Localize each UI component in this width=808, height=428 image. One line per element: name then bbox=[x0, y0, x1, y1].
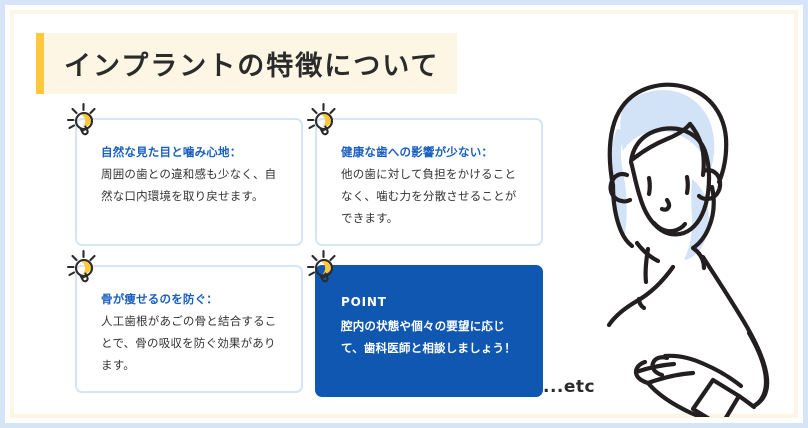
page-title-band: インプラントの特徴について bbox=[36, 33, 457, 94]
title-accent-bar bbox=[36, 33, 44, 94]
card-heading: 自然な見た目と噛み心地： bbox=[101, 144, 285, 161]
woman-presenting-illustration bbox=[553, 67, 801, 417]
feature-card-point[interactable]: POINT 腔内の状態や個々の要望に応じて、歯科医師と相談しましょう！ bbox=[315, 265, 543, 397]
card-text: 腔内の状態や個々の要望に応じて、歯科医師と相談しましょう！ bbox=[341, 315, 525, 360]
card-heading: 骨が痩せるのを防ぐ： bbox=[101, 291, 285, 308]
point-label: POINT bbox=[341, 293, 525, 311]
card-body-container: POINT 腔内の状態や個々の要望に応じて、歯科医師と相談しましょう！ bbox=[315, 265, 543, 397]
card-body-container: 自然な見た目と噛み心地： 周囲の歯との違和感も少なく、自然な口内環境を取り戻せま… bbox=[75, 118, 303, 246]
card-heading: 健康な歯への影響が少ない： bbox=[341, 144, 525, 161]
feature-card-2[interactable]: 健康な歯への影響が少ない： 他の歯に対して負担をかけることなく、噛む力を分散させ… bbox=[315, 118, 543, 246]
card-text: 人工歯根があごの骨と結合することで、骨の吸収を防ぐ効果があります。 bbox=[101, 310, 285, 376]
feature-card-1[interactable]: 自然な見た目と噛み心地： 周囲の歯との違和感も少なく、自然な口内環境を取り戻せま… bbox=[75, 118, 303, 246]
card-text: 周囲の歯との違和感も少なく、自然な口内環境を取り戻せます。 bbox=[101, 163, 285, 207]
card-body-container: 健康な歯への影響が少ない： 他の歯に対して負担をかけることなく、噛む力を分散させ… bbox=[315, 118, 543, 246]
card-body-container: 骨が痩せるのを防ぐ： 人工歯根があごの骨と結合することで、骨の吸収を防ぐ効果があ… bbox=[75, 265, 303, 393]
slide-root: インプラントの特徴について 自然な見た目と噛み心地： 周囲の歯との違和感も少なく… bbox=[0, 0, 808, 428]
card-text: 他の歯に対して負担をかけることなく、噛む力を分散させることができます。 bbox=[341, 163, 525, 229]
feature-card-3[interactable]: 骨が痩せるのを防ぐ： 人工歯根があごの骨と結合することで、骨の吸収を防ぐ効果があ… bbox=[75, 265, 303, 393]
page-title: インプラントの特徴について bbox=[64, 44, 439, 83]
